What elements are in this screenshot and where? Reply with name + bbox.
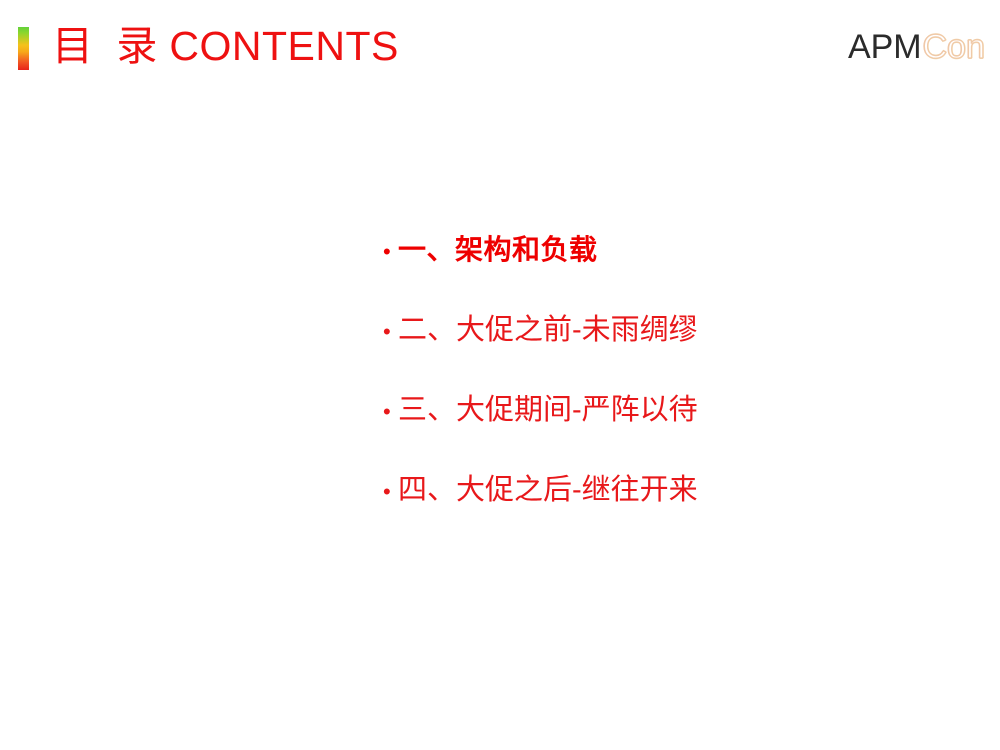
- page-title: 目 录CONTENTS: [18, 20, 399, 72]
- slide-contents: 目 录CONTENTS APMCon • 一、架构和负载 • 二、大促之前-未雨…: [0, 0, 1000, 750]
- bullet-icon: •: [383, 241, 398, 263]
- contents-list: • 一、架构和负载 • 二、大促之前-未雨绸缪 • 三、大促期间-严阵以待 • …: [383, 232, 943, 552]
- logo-apm-text: APM: [848, 28, 922, 66]
- bullet-icon: •: [383, 481, 398, 503]
- contents-item-4[interactable]: • 四、大促之后-继往开来: [383, 472, 943, 552]
- page-title-english: CONTENTS: [163, 23, 399, 69]
- contents-item-1[interactable]: • 一、架构和负载: [383, 232, 943, 312]
- contents-item-4-label: 四、大促之后-继往开来: [398, 472, 698, 508]
- page-title-chinese: 目 录: [52, 23, 163, 69]
- bullet-icon: •: [383, 321, 398, 343]
- slide-header: 目 录CONTENTS APMCon: [0, 0, 1000, 92]
- contents-item-3[interactable]: • 三、大促期间-严阵以待: [383, 392, 943, 472]
- page-title-text: 目 录CONTENTS: [52, 22, 399, 71]
- contents-item-3-label: 三、大促期间-严阵以待: [398, 392, 698, 428]
- contents-item-2[interactable]: • 二、大促之前-未雨绸缪: [383, 312, 943, 392]
- apmcon-logo: APMCon: [848, 28, 985, 66]
- contents-item-2-label: 二、大促之前-未雨绸缪: [398, 312, 698, 348]
- bullet-icon: •: [383, 401, 398, 423]
- gradient-accent-bar-icon: [18, 27, 29, 70]
- contents-item-1-label: 一、架构和负载: [398, 232, 598, 268]
- logo-con-text: Con: [923, 28, 985, 66]
